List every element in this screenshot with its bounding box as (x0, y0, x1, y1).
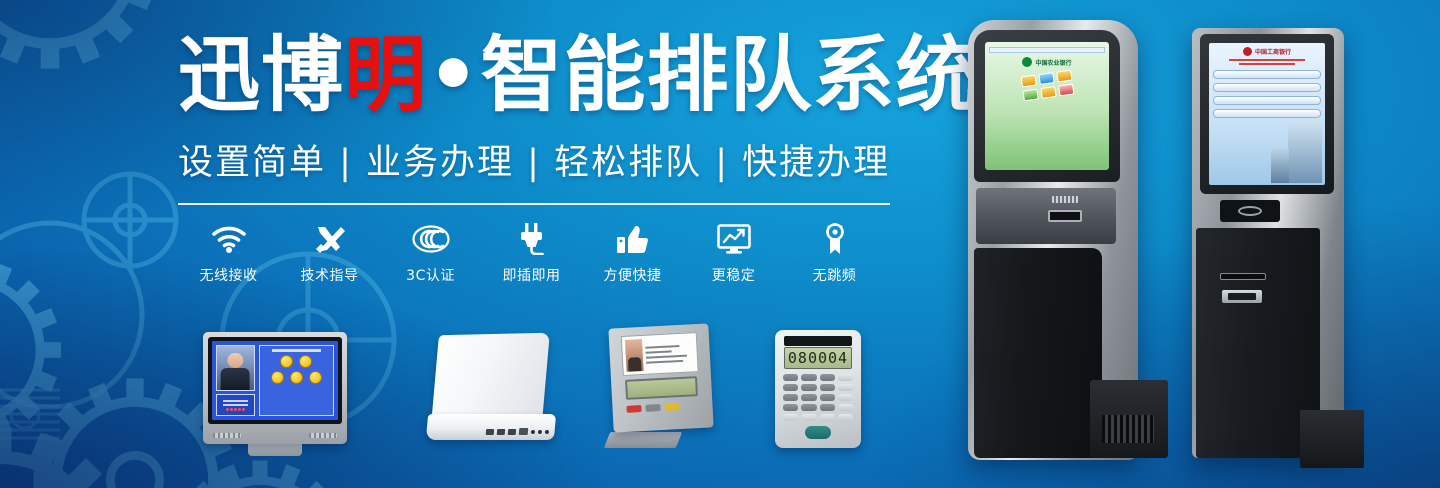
evaluator-stand (604, 432, 682, 448)
keypad-button-grid[interactable] (783, 374, 853, 421)
feature-item-ccc-cert: 3C认证 (380, 221, 481, 285)
card-reader-panel[interactable] (1220, 200, 1280, 222)
monitor-stand (248, 444, 302, 456)
ccc-icon (380, 221, 481, 257)
feature-item-stable: 更稳定 (683, 221, 784, 285)
rating-prompt (272, 349, 322, 352)
bank-logo-abc: 中国农业银行 (1022, 57, 1071, 67)
face-satisfied[interactable] (299, 355, 312, 368)
feature-item-tech-support: 技术指导 (279, 221, 380, 285)
feature-label: 无线接收 (178, 265, 279, 285)
building-graphic-main (1288, 121, 1322, 183)
kiosk-b-base (1300, 410, 1364, 468)
monitor-body (203, 332, 347, 444)
kiosk-a-screen[interactable]: 中国农业银行 (985, 42, 1109, 170)
evaluator-lcd (625, 376, 698, 400)
host-base (426, 414, 556, 440)
feature-label: 技术指导 (279, 265, 380, 285)
product-evaluation-monitor (203, 332, 347, 444)
title-part-highlight: 明 (344, 28, 427, 123)
kiosk-a-titlebar (989, 47, 1105, 53)
evaluator-keys[interactable] (626, 402, 700, 413)
id-card-text (645, 336, 695, 370)
award-icon (784, 221, 885, 257)
building-graphic-side (1271, 149, 1289, 183)
kiosk-a-body (974, 248, 1102, 458)
id-card-photo (625, 339, 644, 372)
rating-stars (226, 408, 245, 411)
horizontal-divider (178, 203, 890, 205)
kiosk-a-menu-tiles[interactable] (1020, 70, 1074, 102)
feature-label: 更稳定 (683, 265, 784, 285)
product-showcase: 080004 (0, 318, 920, 458)
page-subtitle: 设置简单 | 业务办理 | 轻松排队 | 快捷办理 (178, 134, 908, 185)
title-part-3: 智能排队系统 (480, 28, 978, 123)
title-part-1: 迅博 (178, 28, 344, 123)
feature-label: 即插即用 (481, 265, 582, 285)
thumbsup-icon (582, 221, 683, 257)
promo-banner: 迅博明•智能排队系统 设置简单 | 业务办理 | 轻松排队 | 快捷办理 无线接… (0, 0, 1440, 488)
kiosk-b-subtitle (1213, 59, 1321, 65)
feature-item-no-freq-hop: 无跳频 (784, 221, 885, 285)
bank-logo-icbc: 中国工商银行 (1213, 47, 1321, 56)
keypad-lcd: 080004 (784, 347, 852, 369)
feature-item-wireless: 无线接收 (178, 221, 279, 285)
kiosk-agricultural-bank: 中国农业银行 (962, 20, 1167, 470)
keypad-top-strip (784, 336, 852, 346)
keypad-body: 080004 (775, 330, 861, 448)
monitor-chart-icon (683, 221, 784, 257)
monitor-controls[interactable] (213, 432, 337, 439)
staff-photo (216, 345, 255, 391)
kiosk-a-neck (976, 188, 1116, 244)
tools-icon (279, 221, 380, 257)
headline-block: 迅博明•智能排队系统 设置简单 | 业务办理 | 轻松排队 | 快捷办理 无线接… (178, 34, 908, 285)
abc-logo-mark (1022, 57, 1032, 67)
kiosk-b-badge (1222, 290, 1262, 303)
kiosk-a-head: 中国农业银行 (974, 30, 1120, 182)
host-port-row (486, 428, 550, 435)
feature-item-plug-and-play: 即插即用 (481, 221, 582, 285)
face-very-unsatisfied[interactable] (309, 371, 322, 384)
ticket-dispenser-slot[interactable] (1048, 210, 1082, 222)
bank-name: 中国工商银行 (1255, 47, 1291, 56)
page-title: 迅博明•智能排队系统 (178, 34, 908, 118)
title-bullet-separator: • (427, 28, 480, 123)
product-host-controller (427, 334, 557, 444)
feature-label: 方便快捷 (582, 265, 683, 285)
feature-list: 无线接收 技术指导 (178, 221, 890, 285)
monitor-bezel (208, 337, 342, 424)
kiosk-a-vent (1102, 415, 1154, 443)
rating-faces-row-1[interactable] (280, 355, 312, 368)
kiosk-b-menu[interactable] (1213, 70, 1321, 118)
face-neutral[interactable] (271, 371, 284, 384)
plug-icon (481, 221, 582, 257)
kiosk-b-ticket-slot[interactable] (1220, 273, 1266, 280)
rating-faces-row-2[interactable] (271, 371, 322, 384)
bank-name: 中国农业银行 (1035, 58, 1071, 67)
feature-label: 3C认证 (380, 265, 481, 285)
keypad-enter-button[interactable] (805, 426, 831, 439)
kiosk-a-slot-label (1052, 196, 1078, 203)
staff-info-panel (216, 345, 255, 416)
staff-name-plate (216, 394, 255, 416)
product-desktop-evaluator (603, 326, 721, 448)
keypad-display-value: 080004 (788, 349, 848, 367)
evaluator-body (608, 323, 713, 432)
monitor-screen (212, 341, 338, 420)
wifi-icon (178, 221, 279, 257)
face-unsatisfied[interactable] (290, 371, 303, 384)
feature-label: 无跳频 (784, 265, 885, 285)
kiosk-b-screen[interactable]: 中国工商银行 (1209, 43, 1325, 185)
icbc-logo-mark (1243, 47, 1252, 56)
kiosk-b-head: 中国工商银行 (1200, 34, 1334, 194)
rating-panel (259, 345, 334, 416)
product-queue-keypad: 080004 (775, 330, 861, 448)
staff-id-card (621, 332, 699, 376)
host-panel (432, 333, 550, 422)
kiosk-icbc: 中国工商银行 (1192, 28, 1372, 470)
face-very-satisfied[interactable] (280, 355, 293, 368)
feature-item-convenient: 方便快捷 (582, 221, 683, 285)
